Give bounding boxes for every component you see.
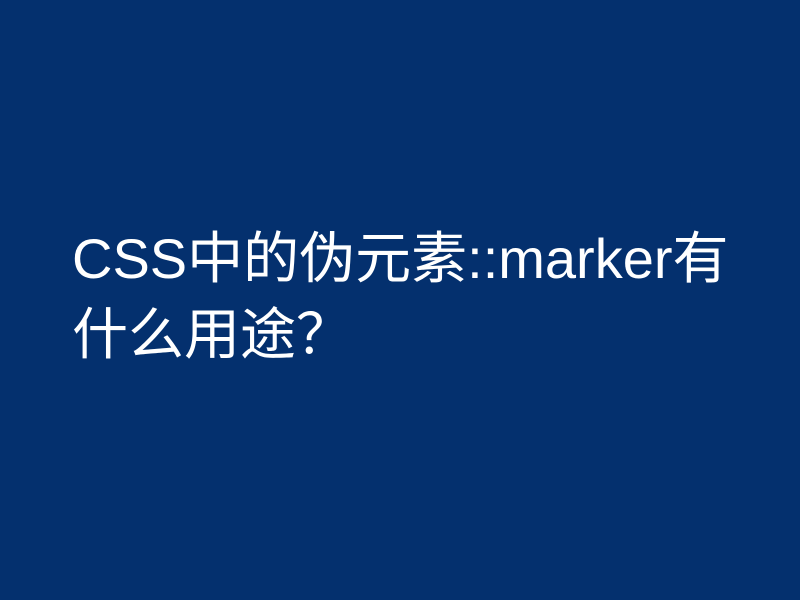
page-title: CSS中的伪元素::marker有什么用途？	[72, 221, 732, 373]
headline-block: CSS中的伪元素::marker有什么用途？	[0, 221, 800, 373]
title-card: CSS中的伪元素::marker有什么用途？	[0, 0, 800, 600]
